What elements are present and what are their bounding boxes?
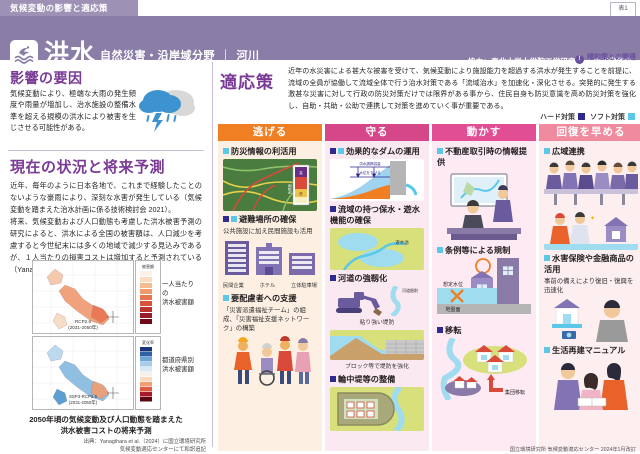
map-ssp3-change-rate: SSP3-RCP2.6 (2031-2050年): [32, 336, 134, 410]
column-header-relocate: 動かす: [432, 124, 536, 141]
right-column: !緩和策との関連 適応策 近年の水災害による甚大な被害を受けて、気候変動により施…: [216, 62, 640, 451]
strategy-columns: 逃げる 防災情報の利活用: [218, 124, 638, 451]
item-label: 流域の持つ保水・遊水機能の確保: [330, 205, 420, 225]
item-ring-levee: 輪中堤等の整備: [330, 374, 424, 385]
strategy-column-relocate: 動かす 不動産取引時の情報提供: [432, 124, 536, 451]
meeting-art: [544, 159, 638, 207]
item-wide-area-cooperation: 広域連携: [544, 146, 638, 157]
svg-text:SSP3-RCP2.6: SSP3-RCP2.6: [69, 394, 98, 399]
strategy-column-escape: 逃げる 防災情報の利活用: [218, 124, 322, 451]
type-swatch-soft: [437, 148, 443, 154]
column-body-recovery: 広域連携: [539, 141, 640, 451]
item-label: 防災情報の利活用: [231, 147, 297, 156]
map2-legend: 変化率: [135, 336, 161, 410]
buildings-art-labels: 民間企業 ホテル 立体駐車場: [223, 282, 317, 289]
item-label: 避難場所の確保: [239, 215, 296, 224]
evacuation-support-art: [223, 336, 317, 386]
item-sub-flood-insurance: 事前の備えにより復旧・復興を迅速化: [544, 277, 638, 295]
svg-text:想定水位: 想定水位: [443, 281, 463, 288]
map1-label: 一人当たりの 洪水被害額: [162, 280, 200, 307]
mitigation-link-label: 緩和策との関連: [587, 54, 636, 61]
item-label: 条例等による規制: [445, 246, 510, 255]
footer-source: 国立環境研究所 気候変動適応センター 2024年1月改訂: [510, 446, 636, 453]
header-subtitle-field: 自然災害・沿岸域分野: [100, 50, 215, 62]
legend-hard-swatch: [578, 113, 585, 120]
item-sub-vulnerable-support: 「災害派遣福祉チーム」の組成、「災害福祉支援ネットワーク」の構築: [223, 306, 317, 333]
type-swatch-hard: [330, 206, 336, 212]
item-label: 広域連携: [552, 147, 585, 156]
column-body-relocate: 不動産取引時の情報提供: [432, 141, 536, 451]
infographic-page: 表1 気候変動の影響と適応策 洪水 自然災害・沿岸域分野｜河川 協力：東北大学大…: [0, 0, 640, 451]
type-swatch-soft: [544, 148, 550, 154]
map1-legend: 被害額: [135, 260, 161, 334]
item-label: 輪中堤等の整備: [338, 375, 395, 384]
family-rebuild-art: [544, 358, 638, 410]
type-swatch-hard: [330, 376, 336, 382]
type-swatch-soft: [231, 216, 237, 222]
type-swatch-soft: [223, 295, 229, 301]
item-river-reinforcement: 河道の強靱化: [330, 273, 424, 284]
item-label: 水害保険や金融商品の活用: [544, 254, 634, 274]
header-eyebrow-band: 気候変動の影響と適応策: [0, 0, 640, 16]
column-header-escape: 逃げる: [218, 124, 322, 141]
item-ordinance-regulation: 条例等による規制: [437, 245, 531, 256]
type-swatch-hard: [330, 275, 336, 281]
buildings-art: [223, 239, 317, 279]
column-divider: [212, 62, 213, 447]
building-label-0: 民間企業: [223, 282, 244, 289]
retention-basin-art: 遊水池: [330, 228, 424, 270]
item-label: 移転: [445, 326, 461, 335]
item-real-estate-info: 不動産取引時の情報提供: [437, 146, 531, 168]
type-swatch-soft: [544, 255, 550, 261]
type-swatch-soft: [544, 347, 550, 353]
impact-factors-body: 気候変動により、極端な大雨の発生頻度や雨量が増加し、治水施設の整備水準を超える規…: [10, 88, 136, 134]
svg-text:地盤面: 地盤面: [445, 306, 460, 313]
type-swatch-hard: [330, 148, 336, 154]
column-body-protect: 効果的なダムの運用 洪水調節容量 水位を下げる: [325, 141, 429, 451]
item-hazard-info: 防災情報の利活用: [223, 146, 317, 157]
header-subtitle-sep: ｜: [220, 50, 232, 62]
mitigation-link-badge: !緩和策との関連: [575, 52, 636, 64]
rain-cloud-lightning-icon: [136, 82, 198, 134]
item-label: 効果的なダムの運用: [346, 147, 420, 156]
type-swatch-soft: [338, 148, 344, 154]
impact-factors-title: 影響の要因: [10, 68, 83, 88]
strong-levee-art: [330, 330, 424, 360]
hazard-map-art: 高 低 危険度: [223, 159, 317, 211]
regulation-art: 想定水位 地盤面: [437, 258, 531, 322]
map2-label: 都道府県別 洪水被害額: [162, 356, 194, 374]
building-label-2: 立体駐車場: [291, 282, 317, 289]
insurance-art: [544, 298, 638, 342]
item-dam-operation: 効果的なダムの運用: [330, 146, 424, 157]
flood-damage-figure: RCP2.6 (2031-2050年) 被害額: [14, 260, 200, 410]
svg-text:RCP2.6: RCP2.6: [75, 319, 92, 324]
svg-text:遊水池: 遊水池: [395, 239, 409, 246]
header-subtitle-topic: 河川: [237, 50, 260, 62]
mitigation-icon: !: [575, 55, 584, 64]
svg-text:水位を下げる: 水位を下げる: [359, 170, 381, 175]
item-label: 要配慮者への支援: [231, 294, 297, 303]
relocation-art: 集団移転: [437, 338, 531, 400]
item-relocation: 移転: [437, 325, 531, 336]
strategy-column-recovery: 回復を早める 広域連携: [539, 124, 640, 451]
item-evacuation-sites: 避難場所の確保: [223, 214, 317, 225]
item-label: 生活再建マニュアル: [552, 346, 625, 355]
strategy-column-protect: 守る 効果的なダムの運用: [325, 124, 429, 451]
svg-text:洪水調節容量: 洪水調節容量: [359, 161, 381, 166]
column-header-protect: 守る: [325, 124, 429, 141]
item-life-rebuild-manual: 生活再建マニュアル: [544, 345, 638, 356]
adaptation-body: 近年の水災害による甚大な被害を受けて、気候変動により施設能力を超過する洪水が発生…: [288, 66, 636, 112]
item-sub-evacuation-sites: 公共施設に加え民間施設も活用: [223, 227, 317, 236]
current-future-section: 現在の状況と将来予測 近年、毎年のように日本各地で、これまで経験したことのないよ…: [10, 156, 165, 177]
item-flood-insurance: 水害保険や金融商品の活用: [544, 253, 638, 275]
column-header-recovery: 回復を早める: [539, 124, 640, 141]
map-rcp26-per-capita: RCP2.6 (2031-2050年): [32, 260, 134, 334]
left-divider: [8, 150, 204, 151]
caption-block-levee: ブロック等で堤防を強化: [330, 363, 424, 371]
svg-text:変化率: 変化率: [142, 339, 154, 345]
type-swatch-soft: [437, 247, 443, 253]
type-swatch-hard: [223, 216, 229, 222]
ring-levee-art: [330, 387, 424, 431]
header-band: 洪水 自然災害・沿岸域分野｜河川 協力：東北大学大学院工学研究科 土木工学専攻: [0, 16, 640, 60]
dam-operation-art: 洪水調節容量 水位を下げる: [330, 159, 424, 201]
svg-text:危険度: 危険度: [287, 183, 292, 194]
caption-strong-levee: 粘り強い堤防: [330, 319, 424, 327]
svg-text:集団移転: 集団移転: [505, 389, 525, 396]
current-future-title: 現在の状況と将来予測: [10, 156, 165, 177]
measure-type-legend: ハード対策 ソフト対策: [540, 112, 638, 122]
insurance-consult-art: ✦: [544, 210, 638, 250]
type-swatch-soft: [223, 148, 229, 154]
legend-soft-swatch: [628, 113, 635, 120]
header-subtitle: 自然災害・沿岸域分野｜河川: [100, 49, 260, 63]
svg-text:(2031-2050年): (2031-2050年): [68, 324, 98, 331]
item-label: 不動産取引時の情報提供: [437, 147, 527, 167]
header-eyebrow: 気候変動の影響と適応策: [0, 0, 138, 16]
adaptation-title: 適応策: [220, 68, 274, 93]
legend-soft-label: ソフト対策: [590, 114, 625, 121]
figure-source: 出典：Yanagihara et al.（2024）に国立環境研究所 気候変動適…: [40, 438, 206, 454]
impact-factors-section: 影響の要因 気候変動により、極端な大雨の発生頻度や雨量が増加し、治水施設の整備水…: [10, 68, 83, 88]
real-estate-info-art: [437, 170, 531, 242]
type-swatch-hard: [437, 327, 443, 333]
river-excavation-art: 河道掘削: [330, 286, 424, 316]
building-label-1: ホテル: [260, 282, 276, 289]
item-vulnerable-support: 要配慮者への支援: [223, 293, 317, 304]
figure-caption: 2050年頃の気候変動及び人口動態を踏まえた 洪水被害コストの将来予測: [6, 414, 206, 436]
svg-text:✦: ✦: [590, 215, 595, 222]
column-body-escape: 防災情報の利活用 高: [218, 141, 322, 451]
item-label: 河道の強靱化: [338, 274, 387, 283]
legend-hard-label: ハード対策: [540, 114, 575, 121]
svg-text:(2031-2050年): (2031-2050年): [69, 399, 98, 406]
item-basin-retention: 流域の持つ保水・遊水機能の確保: [330, 204, 424, 226]
svg-text:河道掘削: 河道掘削: [402, 287, 418, 293]
left-column: 影響の要因 気候変動により、極端な大雨の発生頻度や雨量が増加し、治水施設の整備水…: [0, 64, 212, 451]
svg-text:被害額: 被害額: [142, 263, 154, 269]
